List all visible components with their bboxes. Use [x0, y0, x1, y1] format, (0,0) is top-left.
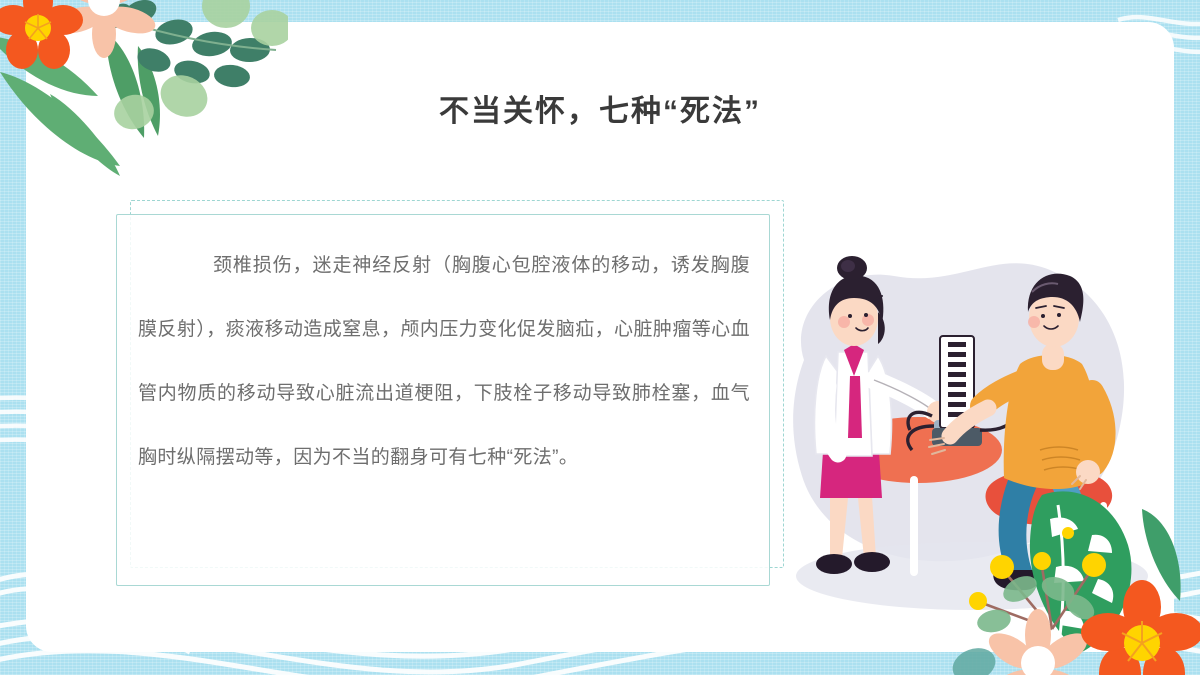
body-paragraph: 颈椎损伤，迷走神经反射（胸腹心包腔液体的移动，诱发胸腹膜反射），痰液移动造成窒息… — [138, 234, 750, 490]
doctor-patient-illustration — [782, 240, 1154, 622]
slide-canvas: 不当关怀，七种“死法” 颈椎损伤，迷走神经反射（胸腹心包腔液体的移动，诱发胸腹膜… — [0, 0, 1200, 675]
content-card: 不当关怀，七种“死法” 颈椎损伤，迷走神经反射（胸腹心包腔液体的移动，诱发胸腹膜… — [26, 22, 1174, 652]
page-title: 不当关怀，七种“死法” — [26, 86, 1174, 130]
